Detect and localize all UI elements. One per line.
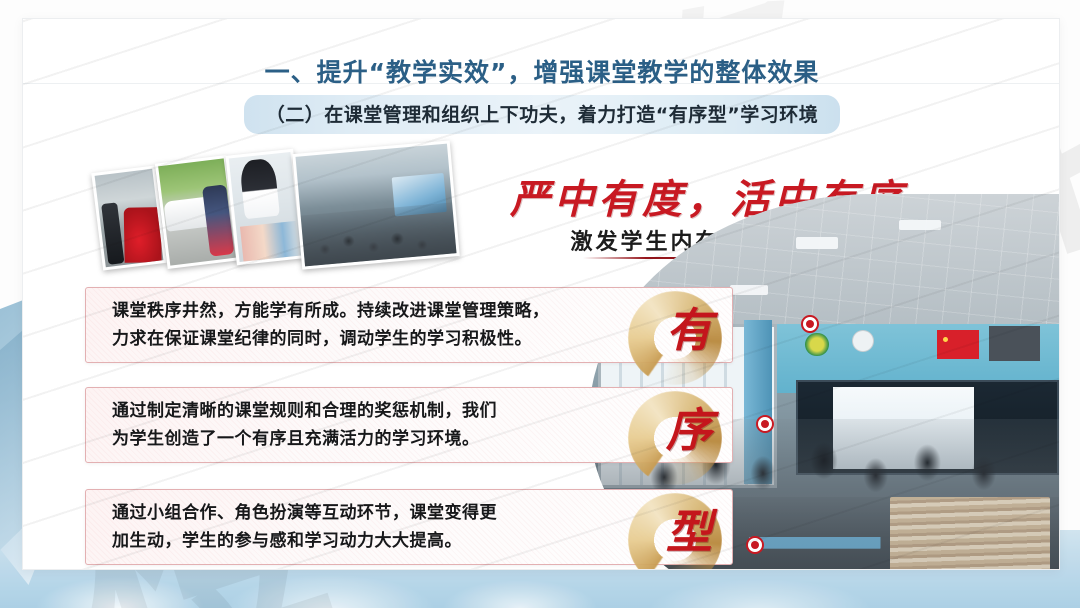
- sub-banner-wrap: （二）在课堂管理和组织上下功夫，着力打造“有序型”学习环境: [23, 95, 1060, 134]
- point-card-3-line-2: 加生动，学生的参与感和学习动力大大提高。: [112, 527, 622, 555]
- enso-glyph-2: 序: [666, 394, 712, 460]
- enso-badge-1: 有: [622, 287, 732, 363]
- sub-banner: （二）在课堂管理和组织上下功夫，着力打造“有序型”学习环境: [244, 95, 840, 134]
- point-card-3-line-1: 通过小组合作、角色扮演等互动环节，课堂变得更: [112, 499, 622, 527]
- point-card-3-text: 通过小组合作、角色扮演等互动环节，课堂变得更 加生动，学生的参与感和学习动力大大…: [86, 499, 622, 555]
- slide-stage: 料 橙 教 资 一、提升“教学实效”，增强课堂教学的整体效果 （二）在课堂管理和…: [0, 0, 1080, 608]
- photo-collage: [83, 147, 483, 272]
- point-card-3: 通过小组合作、角色扮演等互动环节，课堂变得更 加生动，学生的参与感和学习动力大大…: [85, 489, 733, 565]
- point-card-1: 课堂秩序井然，方能学有所成。持续改进课堂管理策略， 力求在保证课堂纪律的同时，调…: [85, 287, 733, 363]
- bullet-marker-2: [756, 415, 774, 433]
- point-card-1-line-1: 课堂秩序井然，方能学有所成。持续改进课堂管理策略，: [112, 297, 622, 325]
- enso-badge-2: 序: [622, 387, 732, 463]
- bullet-marker-3: [746, 536, 764, 554]
- point-card-2: 通过制定清晰的课堂规则和合理的奖惩机制，我们 为学生创造了一个有序且充满活力的学…: [85, 387, 733, 463]
- bullet-marker-1: [801, 315, 819, 333]
- slide-card: 一、提升“教学实效”，增强课堂教学的整体效果 （二）在课堂管理和组织上下功夫，着…: [22, 18, 1060, 570]
- point-card-1-line-2: 力求在保证课堂纪律的同时，调动学生的学习积极性。: [112, 325, 622, 353]
- enso-glyph-1: 有: [666, 294, 712, 360]
- enso-badge-3: 型: [622, 489, 732, 565]
- collage-photo-1: [91, 165, 166, 270]
- page-title: 一、提升“教学实效”，增强课堂教学的整体效果: [23, 53, 1060, 89]
- point-card-2-line-1: 通过制定清晰的课堂规则和合理的奖惩机制，我们: [112, 397, 622, 425]
- enso-glyph-3: 型: [666, 496, 712, 562]
- point-card-2-line-2: 为学生创造了一个有序且充满活力的学习环境。: [112, 425, 622, 453]
- point-card-2-text: 通过制定清晰的课堂规则和合理的奖惩机制，我们 为学生创造了一个有序且充满活力的学…: [86, 397, 622, 453]
- collage-photo-4: [292, 140, 460, 269]
- point-card-1-text: 课堂秩序井然，方能学有所成。持续改进课堂管理策略， 力求在保证课堂纪律的同时，调…: [86, 297, 622, 353]
